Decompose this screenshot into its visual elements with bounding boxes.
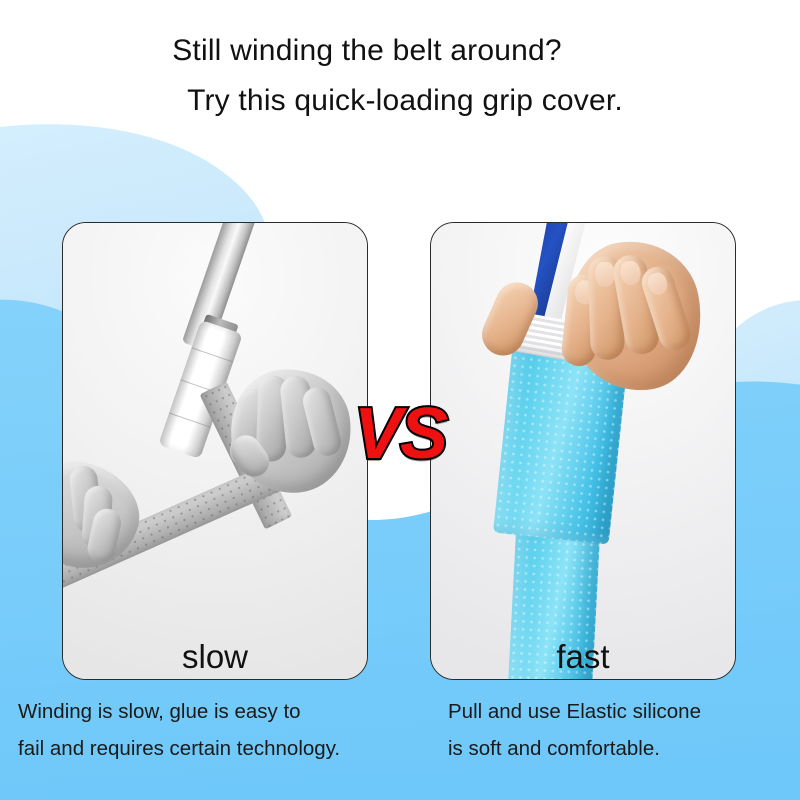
caption-slow: Winding is slow, glue is easy to fail an… [18,693,390,767]
headline-line-2: Try this quick-loading grip cover. [0,76,800,126]
caption-slow-line-2: fail and requires certain technology. [18,730,390,767]
caption-fast-line-1: Pull and use Elastic silicone [448,693,800,730]
photo-silicone-grip-cover [431,223,735,679]
caption-fast-line-2: is soft and comfortable. [448,730,800,767]
hand-holding-tape-left [63,449,151,581]
headline-line-1: Still winding the belt around? [0,26,800,76]
photo-winding-grip-tape [63,223,367,679]
verdict-fast: fast [430,637,736,677]
verdict-slow: slow [62,637,368,677]
comparison-panel-slow[interactable] [62,222,368,680]
headline: Still winding the belt around? Try this … [0,26,800,126]
caption-slow-line-1: Winding is slow, glue is easy to [18,693,390,730]
comparison-panel-fast[interactable] [430,222,736,680]
advertisement-canvas: Still winding the belt around? Try this … [0,0,800,800]
grayscale-scene [63,223,367,679]
caption-fast: Pull and use Elastic silicone is soft an… [448,693,800,767]
